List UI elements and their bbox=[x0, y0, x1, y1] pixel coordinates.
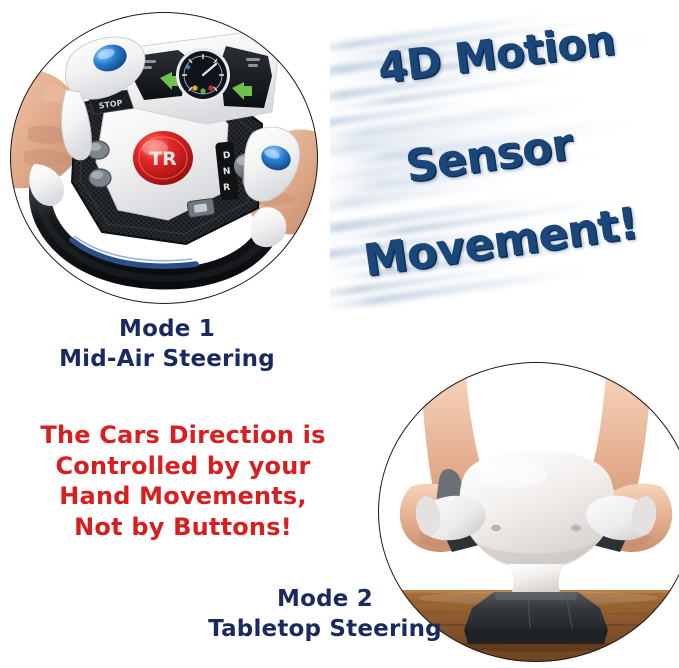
wheel-stem bbox=[508, 564, 564, 592]
mode2-caption-line-2: Tabletop Steering bbox=[180, 614, 470, 644]
svg-text:R: R bbox=[223, 183, 231, 194]
headline-block: 4D Motion Sensor Movement! bbox=[330, 14, 679, 310]
mode1-caption-line-2: Mid-Air Steering bbox=[22, 344, 312, 374]
screw-hole-left bbox=[491, 525, 501, 532]
mode2-caption-line-1: Mode 2 bbox=[180, 584, 470, 614]
mode1-caption-line-1: Mode 1 bbox=[22, 314, 312, 344]
promo-line-4: Not by Buttons! bbox=[18, 512, 348, 543]
promo-line-3: Hand Movements, bbox=[18, 481, 348, 512]
headline-line-1: 4D Motion bbox=[375, 15, 617, 93]
speedometer-gauge bbox=[176, 48, 230, 102]
promo-line-1: The Cars Direction is bbox=[18, 420, 348, 451]
screw-hole-right bbox=[571, 525, 581, 532]
headline-line-2: Sensor bbox=[402, 119, 575, 193]
dashboard-cluster bbox=[122, 32, 278, 124]
mode1-photo: TR STOP D N bbox=[10, 12, 318, 304]
product-feature-image: TR STOP D N bbox=[0, 0, 679, 668]
headline-line-3: Movement! bbox=[360, 198, 641, 287]
svg-text:N: N bbox=[223, 167, 232, 178]
steering-wheel-midair-illustration: TR STOP D N bbox=[10, 12, 318, 304]
mode2-caption: Mode 2 Tabletop Steering bbox=[180, 584, 470, 645]
center-horn-button[interactable]: TR bbox=[133, 131, 193, 185]
center-logo-text: TR bbox=[149, 148, 177, 170]
mode1-caption: Mode 1 Mid-Air Steering bbox=[22, 314, 312, 375]
promo-line-2: Controlled by your bbox=[18, 451, 348, 482]
svg-text:D: D bbox=[223, 151, 231, 162]
power-switch[interactable] bbox=[187, 198, 215, 217]
promo-message: The Cars Direction is Controlled by your… bbox=[18, 420, 348, 543]
